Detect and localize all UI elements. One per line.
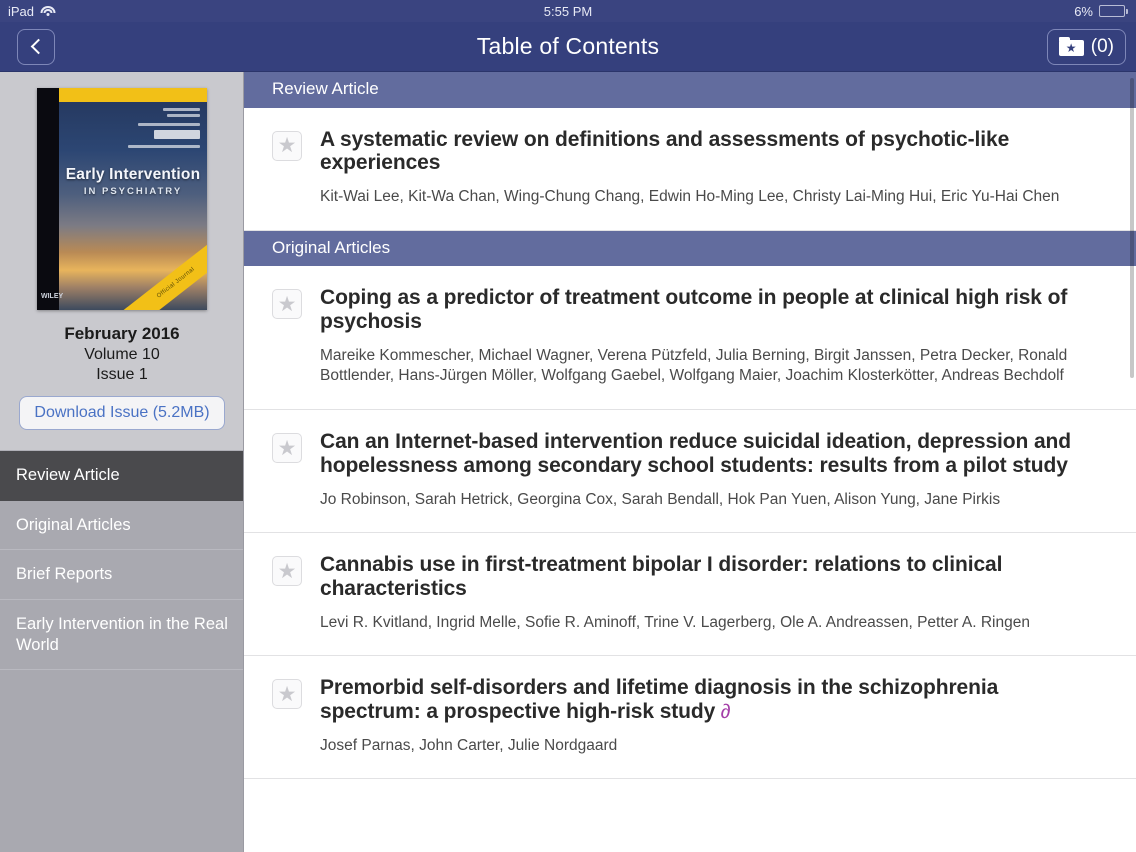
star-icon: ★ <box>278 135 297 156</box>
status-bar-left: iPad <box>8 4 55 19</box>
article-row[interactable]: ★Premorbid self-disorders and lifetime d… <box>244 656 1136 779</box>
status-bar-right: 6% <box>1074 4 1128 19</box>
article-list[interactable]: Review Article★A systematic review on de… <box>244 72 1136 852</box>
sidebar-filler <box>0 670 244 852</box>
article-authors: Levi R. Kvitland, Ingrid Melle, Sofie R.… <box>320 613 1102 634</box>
journal-cover-image[interactable]: Early Intervention IN PSYCHIATRY Officia… <box>37 88 207 310</box>
folder-star-icon: ★ <box>1059 37 1084 56</box>
sidebar: Early Intervention IN PSYCHIATRY Officia… <box>0 72 244 852</box>
chevron-left-icon <box>30 39 46 55</box>
article-text: Premorbid self-disorders and lifetime di… <box>320 676 1102 756</box>
section-header: Original Articles <box>244 231 1136 267</box>
battery-percent-label: 6% <box>1074 4 1093 19</box>
saved-articles-button[interactable]: ★ (0) <box>1047 29 1126 65</box>
saved-count-label: (0) <box>1091 36 1114 58</box>
sidebar-item-review-article[interactable]: Review Article <box>0 451 244 501</box>
article-text: A systematic review on definitions and a… <box>320 128 1102 208</box>
article-title-text: A systematic review on definitions and a… <box>320 128 1009 175</box>
back-button[interactable] <box>17 29 55 65</box>
sidebar-item-label: Review Article <box>16 466 120 484</box>
issue-number: Issue 1 <box>96 366 148 384</box>
status-bar: iPad 5:55 PM 6% <box>0 0 1136 22</box>
article-authors: Josef Parnas, John Carter, Julie Nordgaa… <box>320 736 1102 757</box>
article-row[interactable]: ★A systematic review on definitions and … <box>244 108 1136 231</box>
app-screen: iPad 5:55 PM 6% Table of Contents ★ (0) <box>0 0 1136 852</box>
page-title: Table of Contents <box>0 33 1136 60</box>
article-row[interactable]: ★Can an Internet-based intervention redu… <box>244 410 1136 533</box>
open-lock-icon: ∂ <box>715 701 730 723</box>
article-title-text: Premorbid self-disorders and lifetime di… <box>320 676 998 723</box>
issue-date: February 2016 <box>64 324 179 344</box>
sidebar-item-brief-reports[interactable]: Brief Reports <box>0 550 244 600</box>
article-authors: Kit-Wai Lee, Kit-Wa Chan, Wing-Chung Cha… <box>320 187 1102 208</box>
article-title-text: Coping as a predictor of treatment outco… <box>320 286 1067 333</box>
wifi-icon <box>40 6 55 17</box>
star-icon: ★ <box>278 438 297 459</box>
favorite-button[interactable]: ★ <box>272 679 302 709</box>
device-label: iPad <box>8 4 34 19</box>
favorite-button[interactable]: ★ <box>272 289 302 319</box>
scrollbar[interactable] <box>1130 78 1134 378</box>
article-row[interactable]: ★Coping as a predictor of treatment outc… <box>244 266 1136 410</box>
article-title-text: Cannabis use in first-treatment bipolar … <box>320 553 1002 600</box>
article-title[interactable]: A systematic review on definitions and a… <box>320 128 1102 175</box>
status-bar-clock: 5:55 PM <box>0 4 1136 19</box>
content-area: Early Intervention IN PSYCHIATRY Officia… <box>0 72 1136 852</box>
star-icon: ★ <box>278 684 297 705</box>
article-title[interactable]: Cannabis use in first-treatment bipolar … <box>320 553 1102 600</box>
cover-title: Early Intervention <box>59 166 207 184</box>
sidebar-item-early-intervention-in-the-real-world[interactable]: Early Intervention in the Real World <box>0 600 244 670</box>
sidebar-item-label: Original Articles <box>16 516 131 534</box>
article-text: Coping as a predictor of treatment outco… <box>320 286 1102 387</box>
sidebar-item-original-articles[interactable]: Original Articles <box>0 501 244 551</box>
article-title[interactable]: Coping as a predictor of treatment outco… <box>320 286 1102 333</box>
sidebar-item-label: Early Intervention in the Real World <box>16 615 228 654</box>
battery-icon <box>1099 5 1128 17</box>
article-authors: Jo Robinson, Sarah Hetrick, Georgina Cox… <box>320 490 1102 511</box>
sidebar-item-label: Brief Reports <box>16 565 112 583</box>
article-title[interactable]: Premorbid self-disorders and lifetime di… <box>320 676 1102 723</box>
category-list: Review ArticleOriginal ArticlesBrief Rep… <box>0 450 244 670</box>
navigation-bar: Table of Contents ★ (0) <box>0 22 1136 72</box>
issue-info-panel: Early Intervention IN PSYCHIATRY Officia… <box>0 72 244 430</box>
article-text: Cannabis use in first-treatment bipolar … <box>320 553 1102 633</box>
download-issue-button[interactable]: Download Issue (5.2MB) <box>19 396 224 430</box>
section-header: Review Article <box>244 72 1136 108</box>
favorite-button[interactable]: ★ <box>272 556 302 586</box>
article-title-text: Can an Internet-based intervention reduc… <box>320 430 1071 477</box>
favorite-button[interactable]: ★ <box>272 433 302 463</box>
article-row[interactable]: ★Cannabis use in first-treatment bipolar… <box>244 533 1136 656</box>
star-icon: ★ <box>278 561 297 582</box>
article-title[interactable]: Can an Internet-based intervention reduc… <box>320 430 1102 477</box>
cover-publisher: WILEY <box>41 293 63 300</box>
issue-volume: Volume 10 <box>84 346 160 364</box>
article-text: Can an Internet-based intervention reduc… <box>320 430 1102 510</box>
cover-subtitle: IN PSYCHIATRY <box>59 186 207 197</box>
favorite-button[interactable]: ★ <box>272 131 302 161</box>
star-icon: ★ <box>278 294 297 315</box>
article-authors: Mareike Kommescher, Michael Wagner, Vere… <box>320 346 1102 387</box>
